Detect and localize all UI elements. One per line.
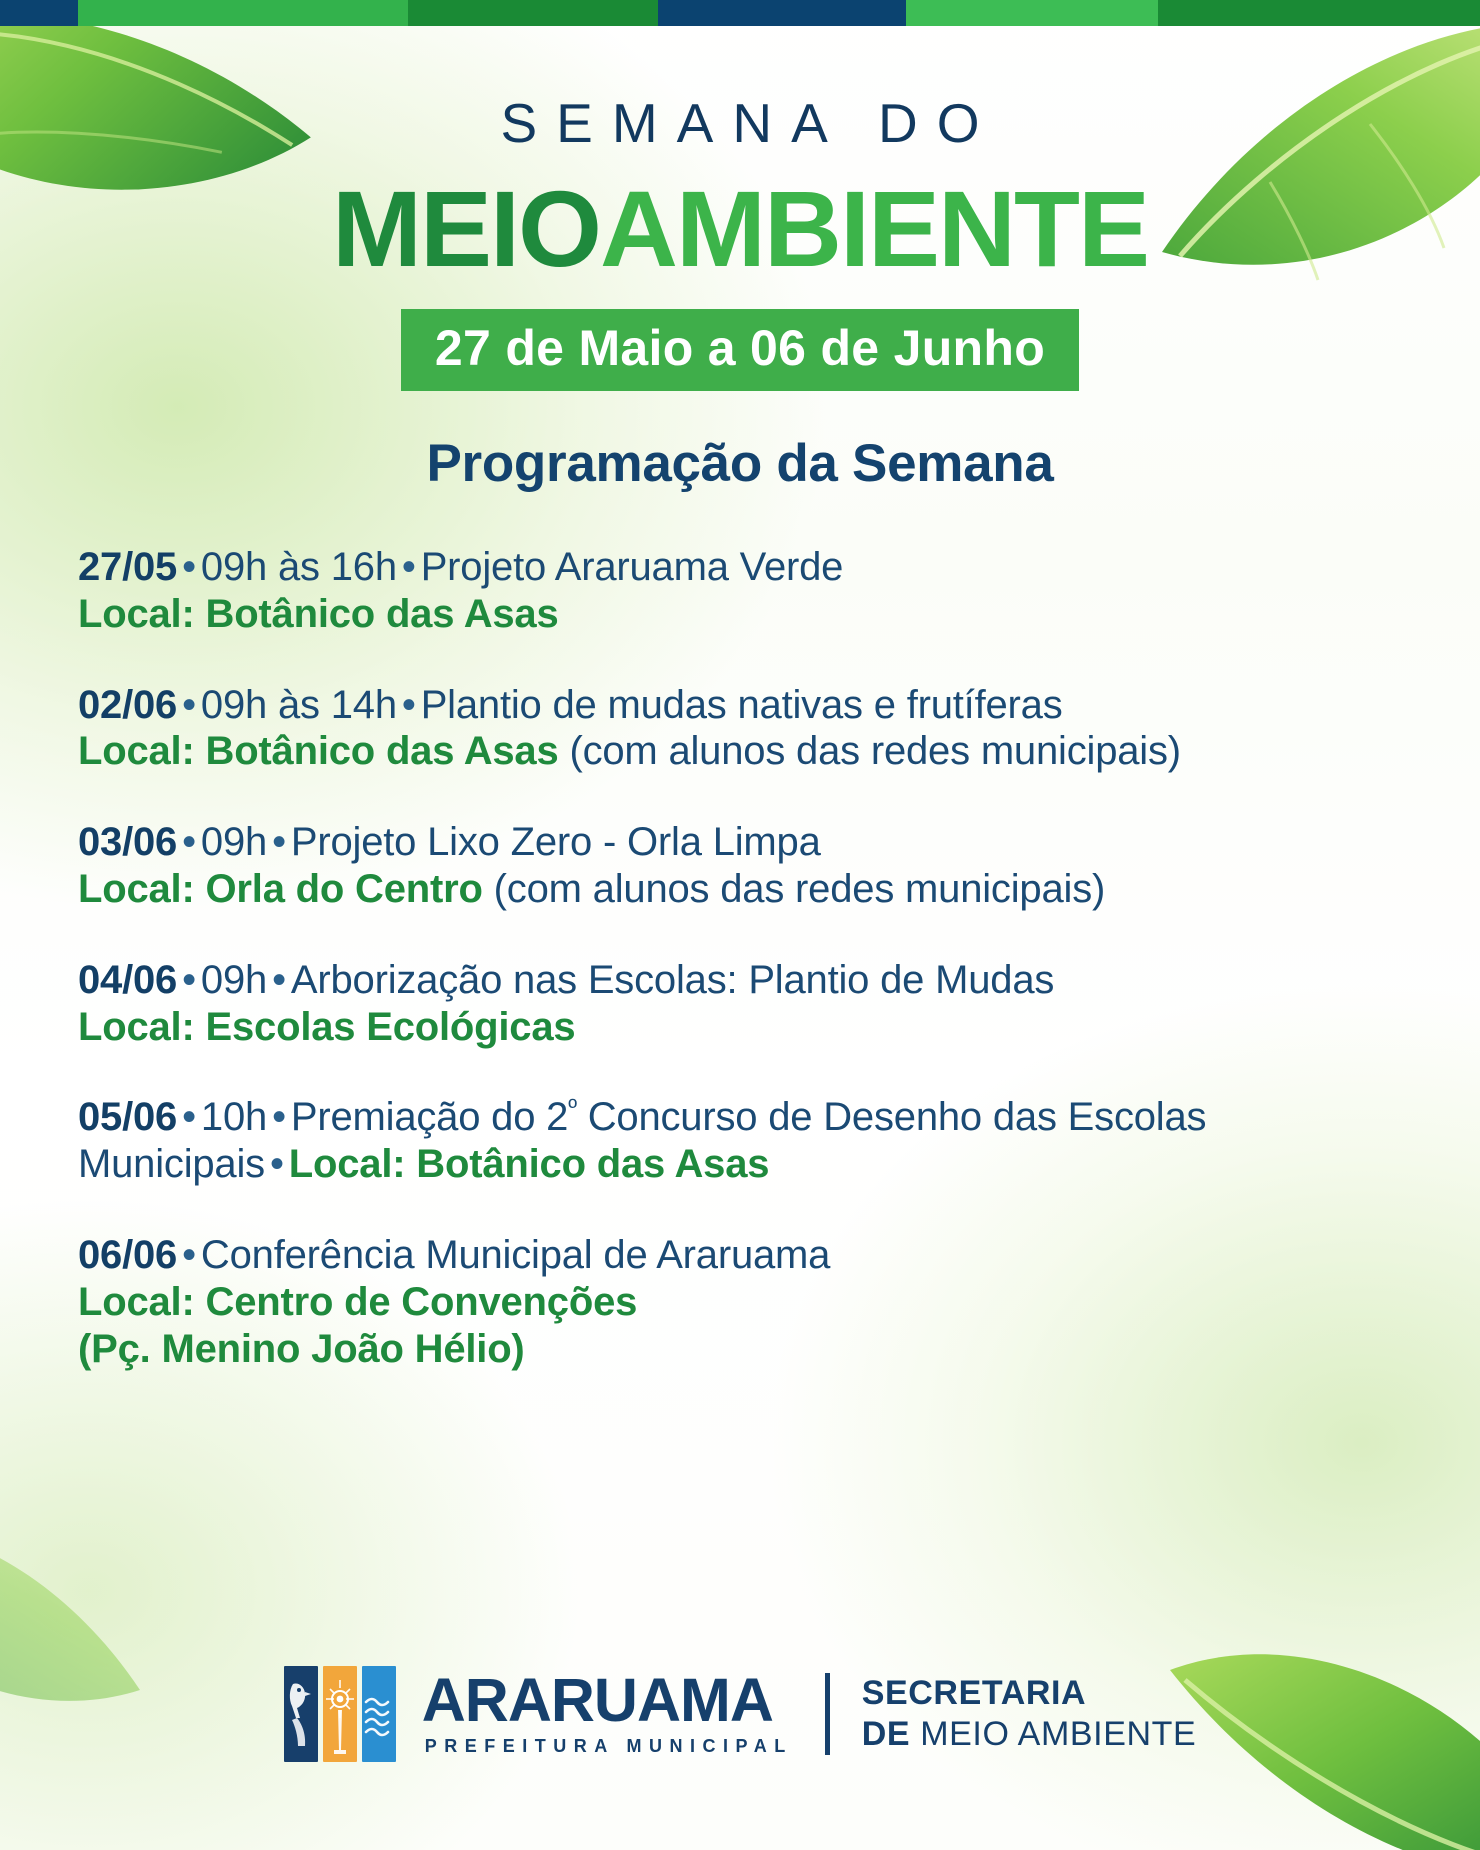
- crest-panel-bird: [284, 1666, 318, 1762]
- local-label: Local:: [78, 592, 195, 636]
- schedule-entry: 27/05•09h às 16h•Projeto Araruama Verde …: [78, 544, 1422, 638]
- secretaria-line-1: SECRETARIA: [862, 1675, 1197, 1712]
- entry-main-line: 05/06•10h•Premiação do 2º Concurso de De…: [78, 1094, 1422, 1188]
- bullet-separator: •: [177, 1095, 201, 1139]
- poster-header: SEMANA DO MEIOAMBIENTE 27 de Maio a 06 d…: [0, 0, 1480, 494]
- local-label: Local:: [78, 1005, 195, 1049]
- page-title: MEIOAMBIENTE: [0, 175, 1480, 283]
- strip-segment-6: [1158, 0, 1480, 26]
- entry-activity: Conferência Municipal de Araruama: [201, 1233, 830, 1277]
- local-value: Orla do Centro: [206, 867, 483, 911]
- schedule-list: 27/05•09h às 16h•Projeto Araruama Verde …: [0, 544, 1480, 1372]
- sun-icon: [323, 1666, 357, 1762]
- local-value: Botânico das Asas: [416, 1142, 769, 1186]
- local-value-secondary: (Pç. Menino João Hélio): [78, 1327, 525, 1371]
- entry-main-line: 03/06•09h•Projeto Lixo Zero - Orla Limpa: [78, 819, 1422, 866]
- strip-segment-4: [658, 0, 906, 26]
- waves-icon: [362, 1666, 396, 1762]
- secretaria-rest: MEIO AMBIENTE: [910, 1715, 1196, 1753]
- vertical-divider: [825, 1673, 830, 1755]
- entry-activity: Projeto Lixo Zero - Orla Limpa: [291, 820, 821, 864]
- entry-activity-pre: Premiação do 2: [291, 1095, 568, 1139]
- entry-main-line: 04/06•09h•Arborização nas Escolas: Plant…: [78, 957, 1422, 1004]
- title-word-ambiente: AMBIENTE: [600, 168, 1148, 289]
- entry-date: 27/05: [78, 545, 177, 589]
- bird-icon: [284, 1666, 318, 1762]
- poster-root: SEMANA DO MEIOAMBIENTE 27 de Maio a 06 d…: [0, 0, 1480, 1850]
- entry-date: 04/06: [78, 958, 177, 1002]
- entry-time: 09h: [201, 958, 267, 1002]
- entry-local-line: Local: Botânico das Asas (com alunos das…: [78, 728, 1422, 775]
- araruama-crest-logo: [284, 1666, 396, 1762]
- entry-activity: Arborização nas Escolas: Plantio de Muda…: [291, 958, 1054, 1002]
- schedule-entry: 03/06•09h•Projeto Lixo Zero - Orla Limpa…: [78, 819, 1422, 913]
- schedule-entry: 04/06•09h•Arborização nas Escolas: Plant…: [78, 957, 1422, 1051]
- bullet-separator: •: [177, 545, 201, 589]
- local-label: Local:: [289, 1142, 406, 1186]
- entry-local-line: Local: Botânico das Asas: [78, 591, 1422, 638]
- bullet-separator: •: [397, 683, 421, 727]
- bullet-separator: •: [267, 1095, 291, 1139]
- local-label: Local:: [78, 867, 195, 911]
- entry-activity-ordinal: º: [568, 1095, 577, 1122]
- local-value: Botânico das Asas: [206, 592, 559, 636]
- bullet-separator: •: [267, 820, 291, 864]
- secretaria-de: DE: [862, 1715, 910, 1753]
- footer-bar: ARARUAMA PREFEITURA MUNICIPAL SECRETARIA…: [0, 1666, 1480, 1762]
- section-subtitle: Programação da Semana: [0, 433, 1480, 494]
- strip-segment-3: [408, 0, 658, 26]
- top-color-strip: [0, 0, 1480, 26]
- bullet-separator: •: [397, 545, 421, 589]
- schedule-entry: 06/06•Conferência Municipal de Araruama …: [78, 1232, 1422, 1372]
- brand-wordmark: ARARUAMA PREFEITURA MUNICIPAL: [422, 1671, 793, 1758]
- entry-activity: Projeto Araruama Verde: [421, 545, 844, 589]
- local-note: (com alunos das redes municipais): [494, 867, 1105, 911]
- bullet-separator: •: [265, 1142, 289, 1186]
- brand-name: ARARUAMA: [422, 1671, 793, 1730]
- entry-time: 10h: [201, 1095, 267, 1139]
- entry-local-line: Local: Escolas Ecológicas: [78, 1004, 1422, 1051]
- crest-panel-waves: [362, 1666, 396, 1762]
- secretaria-block: SECRETARIA DE MEIO AMBIENTE: [862, 1675, 1197, 1753]
- entry-activity: Plantio de mudas nativas e frutíferas: [421, 683, 1063, 727]
- entry-main-line: 27/05•09h às 16h•Projeto Araruama Verde: [78, 544, 1422, 591]
- bullet-separator: •: [267, 958, 291, 1002]
- local-value: Escolas Ecológicas: [206, 1005, 576, 1049]
- entry-date: 03/06: [78, 820, 177, 864]
- bullet-separator: •: [177, 683, 201, 727]
- strip-segment-1: [0, 0, 78, 26]
- schedule-entry: 02/06•09h às 14h•Plantio de mudas nativa…: [78, 682, 1422, 776]
- date-banner-wrap: 27 de Maio a 06 de Junho: [0, 283, 1480, 391]
- secretaria-line-2: DE MEIO AMBIENTE: [862, 1716, 1197, 1753]
- title-word-meio: MEIO: [332, 168, 600, 289]
- date-range-banner: 27 de Maio a 06 de Junho: [401, 309, 1079, 391]
- entry-time: 09h: [201, 820, 267, 864]
- kicker-text: SEMANA DO: [0, 96, 1480, 151]
- bullet-separator: •: [177, 1233, 201, 1277]
- local-label: Local:: [78, 1280, 195, 1324]
- crest-panel-sun: [323, 1666, 357, 1762]
- entry-local-line: Local: Centro de Convenções: [78, 1279, 1422, 1326]
- entry-date: 02/06: [78, 683, 177, 727]
- local-value: Botânico das Asas: [206, 729, 559, 773]
- strip-segment-5: [906, 0, 1158, 26]
- entry-time: 09h às 16h: [201, 545, 397, 589]
- entry-date: 06/06: [78, 1233, 177, 1277]
- entry-local-line: Local: Orla do Centro (com alunos das re…: [78, 866, 1422, 913]
- strip-segment-2: [78, 0, 408, 26]
- schedule-entry: 05/06•10h•Premiação do 2º Concurso de De…: [78, 1094, 1422, 1188]
- bullet-separator: •: [177, 958, 201, 1002]
- entry-local-line-2: (Pç. Menino João Hélio): [78, 1326, 1422, 1373]
- bullet-separator: •: [177, 820, 201, 864]
- entry-main-line: 06/06•Conferência Municipal de Araruama: [78, 1232, 1422, 1279]
- local-value: Centro de Convenções: [206, 1280, 638, 1324]
- brand-subtitle: PREFEITURA MUNICIPAL: [422, 1736, 793, 1757]
- entry-main-line: 02/06•09h às 14h•Plantio de mudas nativa…: [78, 682, 1422, 729]
- local-label: Local:: [78, 729, 195, 773]
- entry-time: 09h às 14h: [201, 683, 397, 727]
- entry-date: 05/06: [78, 1095, 177, 1139]
- local-note: (com alunos das redes municipais): [569, 729, 1180, 773]
